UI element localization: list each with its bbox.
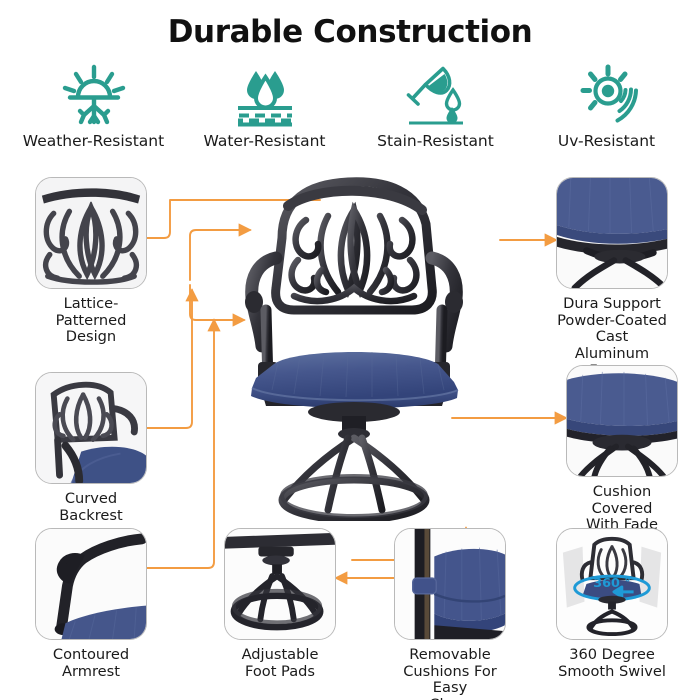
callout-foot-pads[interactable]: Adjustable Foot Pads [224, 528, 336, 680]
callout-removable-cushions[interactable]: Removable Cushions For Easy Clean [394, 528, 506, 700]
feature-uv-resistant: Uv-Resistant [521, 62, 692, 162]
sun-snowflake-icon [61, 62, 127, 130]
feature-label: Weather-Resistant [23, 132, 164, 150]
feature-badge-row: Weather-Resistant [8, 62, 692, 162]
main-product-image [236, 176, 492, 521]
callout-contoured-armrest[interactable]: Contoured Armrest [35, 528, 147, 680]
contoured-armrest-photo [35, 528, 147, 640]
callout-curved-backrest[interactable]: Curved Backrest [35, 372, 147, 524]
feature-label: Stain-Resistant [377, 132, 494, 150]
foot-pads-photo [224, 528, 336, 640]
feature-label: Water-Resistant [204, 132, 326, 150]
callout-caption: Adjustable Foot Pads [224, 647, 336, 680]
callout-360-swivel[interactable]: 360 ° 360 Degree Smooth Swivel [556, 528, 668, 680]
page-title: Durable Construction [0, 14, 700, 50]
swivel-chair-photo: 360 ° [556, 528, 668, 640]
feature-weather-resistant: Weather-Resistant [8, 62, 179, 162]
sun-uv-rays-icon [574, 62, 640, 130]
sunbrella-cushion-photo [566, 365, 678, 477]
removable-cushion-photo [394, 528, 506, 640]
callout-caption: 360 Degree Smooth Swivel [556, 647, 668, 680]
water-droplets-fabric-icon [232, 62, 298, 130]
aluminum-frame-photo [556, 177, 668, 289]
feature-label: Uv-Resistant [558, 132, 655, 150]
callout-caption: Curved Backrest [35, 491, 147, 524]
curved-backrest-photo [35, 372, 147, 484]
swivel-badge-text: 360 ° [593, 576, 630, 591]
infographic-page: Durable Construction [0, 0, 700, 700]
lattice-backrest-photo [35, 177, 147, 289]
spilling-wine-glass-icon [403, 62, 469, 130]
feature-water-resistant: Water-Resistant [179, 62, 350, 162]
callout-caption: Lattice- Patterned Design [35, 296, 147, 346]
callout-aluminum-frame[interactable]: Dura Support Powder-Coated Cast Aluminum… [556, 177, 668, 379]
callout-lattice[interactable]: Lattice- Patterned Design [35, 177, 147, 346]
callout-caption: Removable Cushions For Easy Clean [394, 647, 506, 700]
feature-stain-resistant: Stain-Resistant [350, 62, 521, 162]
callout-caption: Contoured Armrest [35, 647, 147, 680]
